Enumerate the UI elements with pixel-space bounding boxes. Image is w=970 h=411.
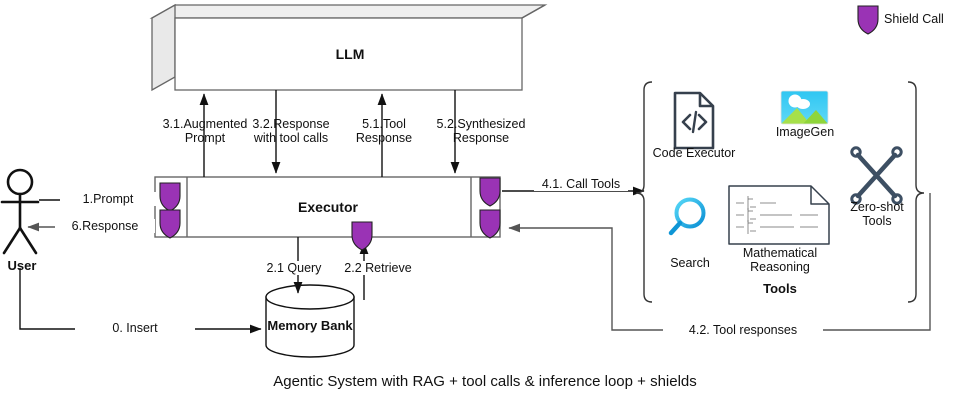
executor-label: Executor [268,200,388,214]
tool-label-zero-shot-tools: Zero-shot Tools [835,200,919,228]
tools-group-label: Tools [735,282,825,296]
edge-label-tool-response: 5.1.Tool Response [341,117,427,145]
diagram-canvas: LLM Executor Memory Bank User Tools 1.Pr… [0,0,970,411]
user-label: User [0,259,44,273]
shield-icon-legend [858,6,878,34]
math-document-icon [729,186,829,244]
user-node[interactable] [2,170,38,253]
edge-label-retrieve: 2.2 Retrieve [330,261,426,275]
code-document-icon [675,93,713,148]
diagram-caption: Agentic System with RAG + tool calls & i… [0,375,970,389]
shield-icon-executor-bottom-center [352,222,372,250]
tool-label-imagegen: ImageGen [765,125,845,139]
edge-insert [20,268,261,329]
llm-label: LLM [285,47,415,61]
magnifier-icon [671,200,704,234]
edge-label-tool-responses: 4.2. Tool responses [663,323,823,337]
edge-label-synthesized-response: 5.2.Synthesized Response [422,117,540,145]
edge-label-query: 2.1 Query [253,261,335,275]
tool-label-mathematical-reasoning: Mathematical Reasoning [730,246,830,274]
tool-label-search: Search [655,256,725,270]
edge-label-response-tool-calls: 3.2.Response with tool calls [233,117,349,145]
image-icon [781,91,828,124]
legend-shield-label: Shield Call [884,12,970,26]
edge-label-call-tools: 4.1. Call Tools [534,177,628,191]
tool-label-code-executor: Code Executor [645,146,743,160]
edge-label-insert: 0. Insert [75,321,195,335]
crossed-wrenches-icon [852,148,901,203]
memory-bank-label: Memory Bank [255,319,365,333]
edge-label-response: 6.Response [55,219,155,233]
edge-label-prompt: 1.Prompt [60,192,156,206]
